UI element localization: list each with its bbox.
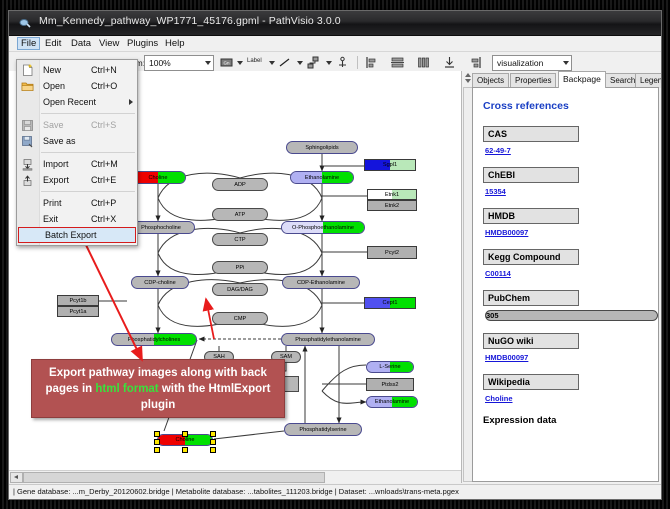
selection-handle[interactable] — [210, 431, 216, 437]
window-title: Mm_Kennedy_pathway_WP1771_45176.gpml - P… — [39, 15, 341, 27]
callout-highlight: html format — [95, 383, 158, 395]
pathway-gene-node[interactable]: Pcyt1b — [57, 295, 99, 306]
node-label: PPi — [236, 265, 245, 271]
pathway-node[interactable]: L-Serine — [366, 361, 414, 373]
node-label: CMP — [234, 316, 246, 322]
node-label: Etnk2 — [385, 203, 399, 209]
pathway-node[interactable]: ADP — [212, 178, 268, 191]
menu-item-import[interactable]: Import Ctrl+M — [17, 156, 137, 172]
backpage-content: Cross references CAS 62-49-7 ChEBI 15354… — [472, 87, 659, 482]
selection-handle[interactable] — [154, 431, 160, 437]
xref-name-chebi: ChEBI — [483, 167, 579, 183]
status-bar: | Gene database: ...m_Derby_20120602.bri… — [9, 484, 662, 499]
menu-data[interactable]: Data — [67, 37, 95, 50]
node-label: Pcyt1b — [69, 298, 86, 304]
label-dropdown-icon[interactable] — [269, 61, 275, 65]
pathway-node[interactable]: Phosphatidylcholines — [111, 333, 197, 346]
pathway-node[interactable]: Ethanolamine — [290, 171, 354, 184]
folder-icon — [21, 80, 34, 93]
cross-references-heading: Cross references — [483, 100, 658, 112]
menu-plugins[interactable]: Plugins — [123, 37, 162, 50]
xref-name-nugo: NuGO wiki — [483, 333, 579, 349]
selection-handle[interactable] — [210, 439, 216, 445]
node-label: Phosphocholine — [141, 225, 181, 231]
xref-name-cas: CAS — [483, 126, 579, 142]
pathway-gene-node[interactable]: Sgpl1 — [364, 159, 416, 171]
menu-separator — [41, 191, 135, 192]
node-label: CDP-choline — [144, 280, 175, 286]
node-label: CDP-Ethanolamine — [297, 280, 345, 286]
menu-separator — [41, 152, 135, 153]
pathway-node[interactable]: CDP-choline — [131, 276, 189, 289]
line-dropdown-icon[interactable] — [297, 61, 303, 65]
export-icon — [21, 174, 34, 187]
menu-item-export-label: Export — [43, 175, 69, 185]
menu-edit[interactable]: Edit — [41, 37, 65, 50]
node-label: CTP — [234, 237, 245, 243]
file-menu-popup: New Ctrl+N Open Ctrl+O Open Recent — [16, 59, 138, 246]
menu-item-save-as[interactable]: Save as — [17, 133, 137, 149]
expression-data-heading: Expression data — [483, 415, 658, 426]
menu-item-save: Save Ctrl+S — [17, 117, 137, 133]
import-icon — [21, 158, 34, 171]
svg-text:Gn: Gn — [223, 61, 230, 66]
interaction-icon[interactable] — [306, 55, 321, 70]
pathvisio-icon — [19, 17, 31, 29]
selection-handle[interactable] — [182, 431, 188, 437]
tab-properties[interactable]: Properties — [510, 73, 556, 88]
line-icon[interactable] — [277, 55, 292, 70]
node-label: Choline — [149, 175, 168, 181]
pathway-node[interactable]: CMP — [212, 312, 268, 325]
xref-value-chebi[interactable]: 15354 — [485, 187, 658, 196]
chevron-down-icon — [205, 61, 211, 65]
pathway-node[interactable]: PPi — [212, 261, 268, 274]
node-label: ADP — [234, 182, 246, 188]
xref-value-pubchem: 305 — [485, 310, 658, 321]
tab-legend[interactable]: Legend — [635, 73, 662, 88]
menu-item-print-label: Print — [43, 198, 62, 208]
node-label: Phosphatidylcholines — [128, 337, 181, 343]
node-label: L-Serine — [379, 364, 400, 370]
selection-handle[interactable] — [154, 447, 160, 453]
tab-objects[interactable]: Objects — [472, 73, 509, 88]
visualization-combobox[interactable]: visualization — [492, 55, 572, 71]
node-label: Cept1 — [383, 300, 398, 306]
node-label: O-Phosphoethanolamine — [292, 225, 354, 231]
anchor-icon[interactable] — [335, 55, 350, 70]
xref-name-kegg: Kegg Compound — [483, 249, 579, 265]
pathway-gene-node[interactable]: Pcyt2 — [367, 246, 417, 259]
chevron-down-icon — [563, 61, 569, 65]
menu-view[interactable]: View — [95, 37, 123, 50]
menu-item-import-label: Import — [43, 159, 69, 169]
node-label: Ethanolamine — [375, 399, 409, 405]
annotation-callout: Export pathway images along with back pa… — [31, 359, 285, 418]
menu-item-new[interactable]: New Ctrl+N — [17, 62, 137, 78]
scroll-thumb[interactable] — [23, 472, 325, 483]
save-as-icon — [21, 135, 34, 148]
menu-item-import-accel: Ctrl+M — [91, 159, 118, 169]
menu-help[interactable]: Help — [161, 37, 189, 50]
canvas-hscrollbar[interactable] — [9, 470, 461, 483]
menu-file[interactable]: File — [17, 37, 40, 50]
menu-item-open-recent-label: Open Recent — [43, 97, 96, 107]
callout-text-after: with the HtmlExport plugin — [141, 383, 271, 411]
tab-scroll-icon[interactable] — [464, 73, 469, 85]
pathway-node[interactable]: Ptdss2 — [366, 378, 414, 391]
distribute-icon[interactable] — [416, 55, 431, 70]
new-file-icon — [21, 64, 34, 77]
align-left-icon[interactable] — [364, 55, 379, 70]
pathway-node[interactable]: Phosphatidylethanolamine — [281, 333, 375, 346]
xref-value-kegg[interactable]: C00114 — [485, 269, 658, 278]
pathway-node[interactable]: O-Phosphoethanolamine — [281, 221, 365, 234]
selection-handle[interactable] — [210, 447, 216, 453]
screenshot-frame: Mm_Kennedy_pathway_WP1771_45176.gpml - P… — [0, 0, 670, 509]
menu-item-new-accel: Ctrl+N — [91, 65, 117, 75]
menu-item-batch-export-label: Batch Export — [45, 230, 97, 240]
node-label: Ptdss2 — [381, 382, 398, 388]
xref-value-nugo[interactable]: HMDB00097 — [485, 353, 658, 362]
menu-item-save-label: Save — [43, 120, 64, 130]
node-label: Sphingolipids — [305, 145, 338, 151]
node-label: DAG/DAG — [227, 287, 253, 293]
xref-name-hmdb: HMDB — [483, 208, 579, 224]
pathway-node[interactable]: CDP-Ethanolamine — [282, 276, 360, 289]
menu-item-exit-label: Exit — [43, 214, 58, 224]
xref-value-cas[interactable]: 62-49-7 — [485, 146, 658, 155]
pathway-node[interactable]: Ethanolamine — [366, 396, 418, 408]
zoom-combobox[interactable]: 100% — [144, 55, 214, 71]
menu-item-new-label: New — [43, 65, 61, 75]
node-label: Pcyt1a — [69, 309, 86, 315]
menu-item-print-accel: Ctrl+P — [91, 198, 116, 208]
datanode-icon[interactable]: Gn — [219, 55, 234, 70]
tab-backpage[interactable]: Backpage — [558, 71, 606, 88]
toolbar-separator — [357, 56, 358, 69]
menu-item-open-label: Open — [43, 81, 65, 91]
submenu-arrow-icon — [129, 99, 133, 105]
selection-handle[interactable] — [154, 439, 160, 445]
menu-item-export[interactable]: Export Ctrl+E — [17, 172, 137, 188]
menu-item-batch-export[interactable]: Batch Export — [18, 227, 136, 243]
node-label: Etnk1 — [385, 192, 399, 198]
pathway-node[interactable]: CTP — [212, 233, 268, 246]
label-button[interactable]: Label — [247, 58, 262, 64]
menu-item-open[interactable]: Open Ctrl+O — [17, 78, 137, 94]
pathway-gene-node[interactable]: Cept1 — [364, 297, 416, 309]
node-label: Ethanolamine — [305, 175, 339, 181]
interaction-dropdown-icon[interactable] — [326, 61, 332, 65]
node-label: Choline — [176, 437, 195, 443]
menu-item-exit[interactable]: Exit Ctrl+X — [17, 211, 137, 227]
pathway-node[interactable]: Phosphatidylserine — [284, 423, 362, 436]
menu-item-print[interactable]: Print Ctrl+P — [17, 195, 137, 211]
stack-bottom-icon[interactable] — [442, 55, 457, 70]
xref-value-hmdb[interactable]: HMDB00097 — [485, 228, 658, 237]
pathway-gene-node[interactable]: Pcyt1a — [57, 306, 99, 317]
pathway-node[interactable]: ATP — [212, 208, 268, 221]
datanode-dropdown-icon[interactable] — [237, 61, 243, 65]
callout-text: Export pathway images along with back pa… — [32, 365, 284, 413]
menu-bar: File Edit Data View Plugins Help — [9, 36, 661, 52]
save-icon — [21, 119, 34, 132]
node-label: ATP — [235, 212, 245, 218]
pathvisio-window: Mm_Kennedy_pathway_WP1771_45176.gpml - P… — [8, 10, 662, 500]
visualization-value: visualization — [497, 58, 543, 68]
pathway-node[interactable]: DAG/DAG — [212, 283, 268, 296]
pathway-gene-node[interactable]: Etnk1 — [367, 189, 417, 200]
node-label: Phosphatidylethanolamine — [295, 337, 361, 343]
side-panel: Objects Properties Backpage Search Legen… — [462, 71, 661, 483]
menu-item-open-recent[interactable]: Open Recent — [17, 94, 137, 110]
menu-item-exit-accel: Ctrl+X — [91, 214, 116, 224]
pathway-gene-node[interactable]: Etnk2 — [367, 200, 417, 211]
align-center-icon[interactable] — [390, 55, 405, 70]
pathway-node[interactable]: Choline — [130, 171, 186, 184]
menu-separator — [41, 113, 135, 114]
zoom-value: 100% — [149, 58, 171, 68]
scroll-left-arrow-icon[interactable] — [10, 472, 23, 483]
xref-name-pubchem: PubChem — [483, 290, 579, 306]
xref-name-wikipedia: Wikipedia — [483, 374, 579, 390]
pathway-node[interactable]: Sphingolipids — [286, 141, 358, 154]
title-bar: Mm_Kennedy_pathway_WP1771_45176.gpml - P… — [9, 11, 661, 36]
pathway-anchor-box[interactable] — [283, 376, 299, 392]
xref-value-wikipedia[interactable]: Choline — [485, 394, 658, 403]
menu-item-save-as-label: Save as — [43, 136, 76, 146]
menu-item-export-accel: Ctrl+E — [91, 175, 116, 185]
side-panel-tabs: Objects Properties Backpage Search Legen… — [462, 71, 661, 87]
menu-item-open-accel: Ctrl+O — [91, 81, 117, 91]
menu-item-save-accel: Ctrl+S — [91, 120, 116, 130]
node-label: Sgpl1 — [383, 162, 397, 168]
align-right-icon[interactable] — [468, 55, 483, 70]
node-label: Pcyt2 — [385, 250, 399, 256]
node-label: Phosphatidylserine — [299, 427, 346, 433]
selection-handle[interactable] — [182, 447, 188, 453]
